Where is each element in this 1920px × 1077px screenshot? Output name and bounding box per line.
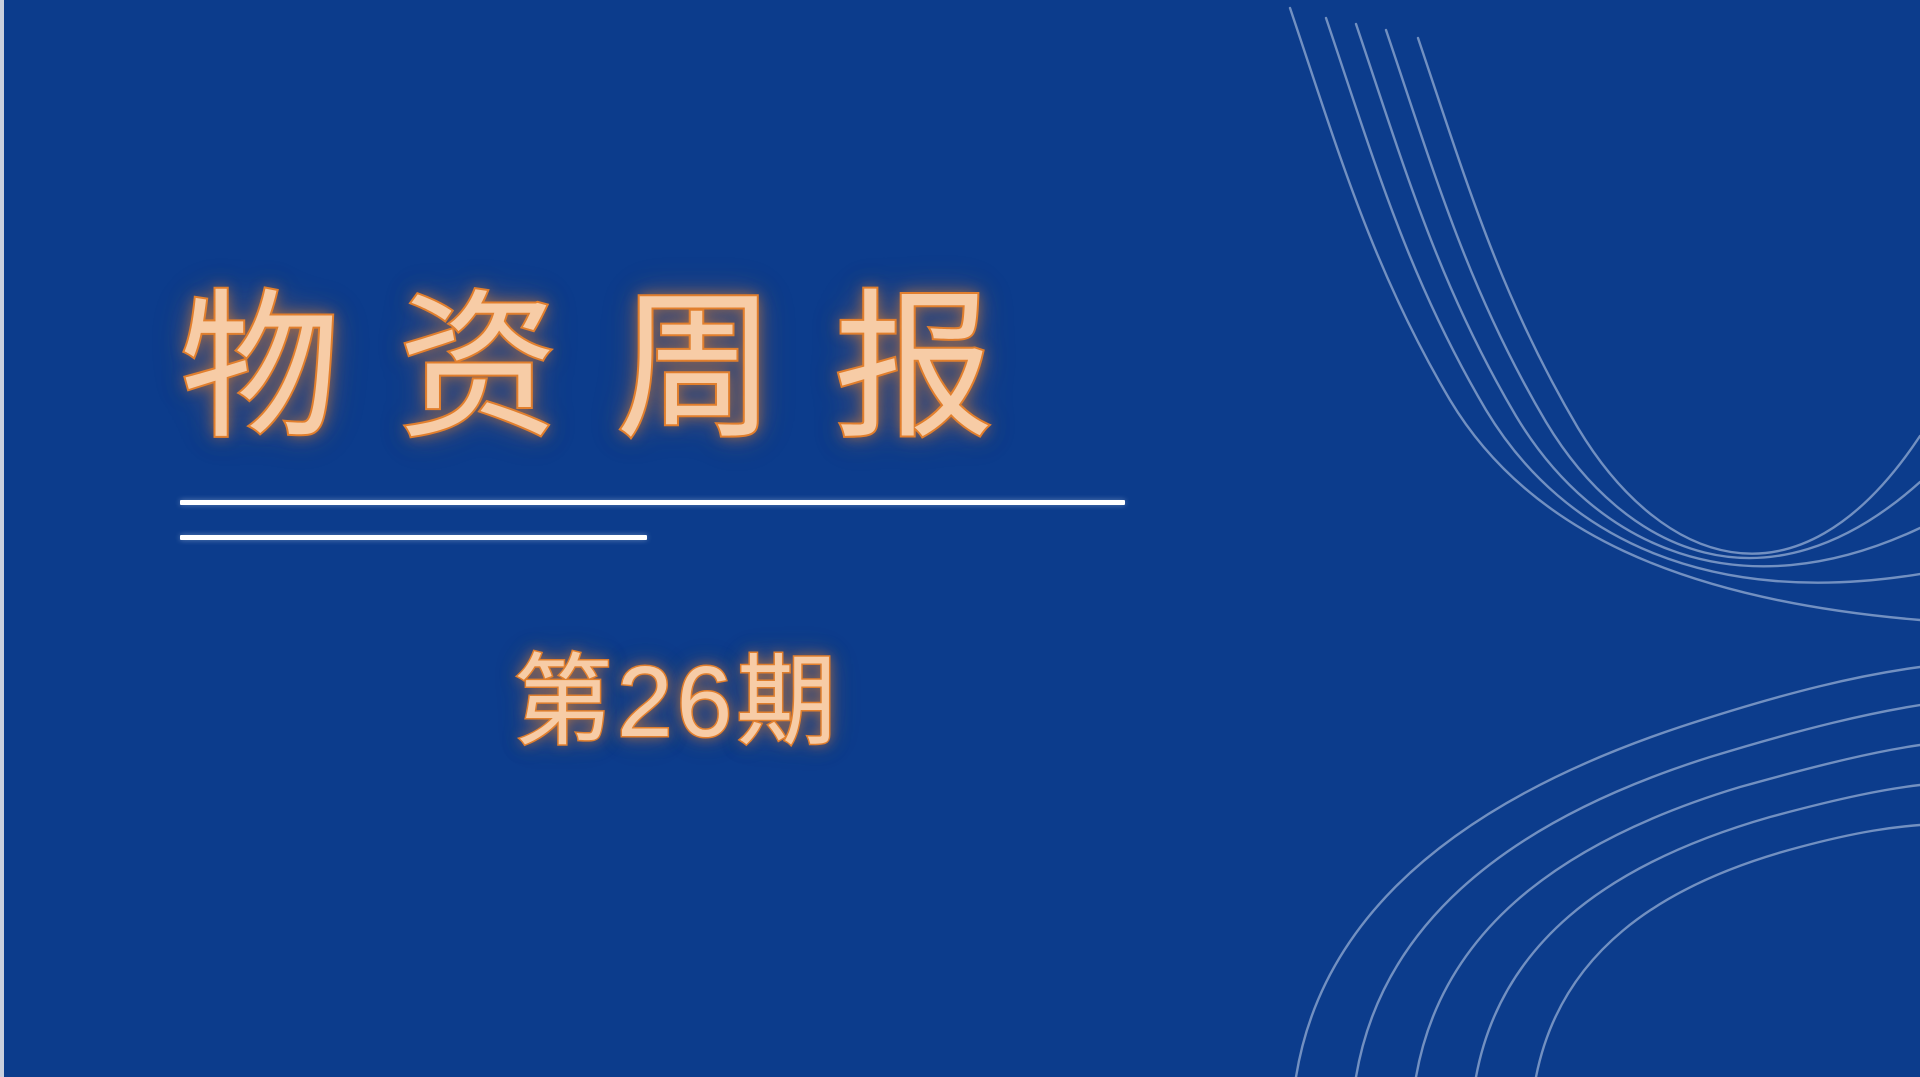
title-underline-short — [180, 535, 647, 540]
issue-subtitle: 第26期 — [513, 645, 840, 760]
slide-content: 物资周报 第26期 — [0, 0, 1920, 1077]
left-edge-strip — [0, 0, 4, 1077]
page-title: 物资周报 — [180, 288, 1052, 448]
title-underline-group — [180, 500, 1125, 540]
title-slide: 物资周报 第26期 — [0, 0, 1920, 1077]
title-block: 物资周报 — [180, 288, 1052, 448]
title-underline-long — [180, 500, 1125, 505]
